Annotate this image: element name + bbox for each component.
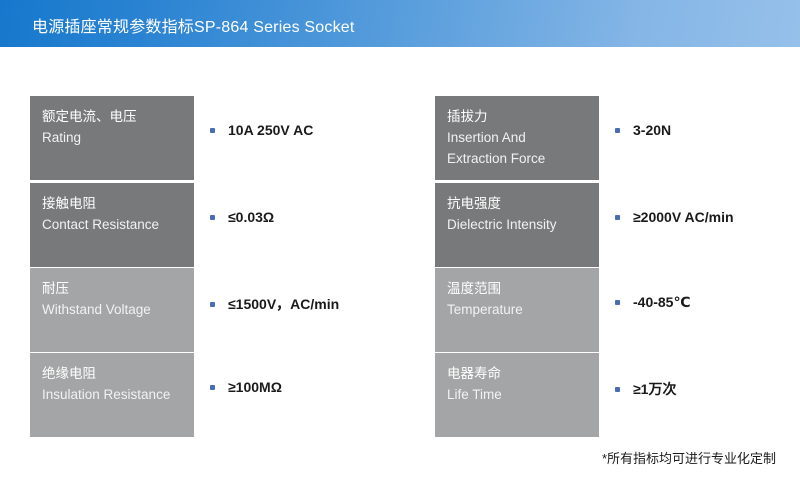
param-label-dielectric-intensity: 抗电强度 Dielectric Intensity [435,183,599,267]
param-value-group: ≤0.03Ω [210,209,274,225]
param-label-cn: 抗电强度 [447,193,599,214]
param-label-en: Insertion And [447,127,599,148]
param-label-cn: 接触电阻 [42,193,194,214]
param-row: 抗电强度 Dielectric Intensity ≥2000V AC/min [435,183,800,267]
param-label-cn: 插拔力 [447,106,599,127]
param-value-group: 3-20N [615,122,671,138]
param-value-group: -40-85℃ [615,294,690,311]
param-value: -40-85℃ [633,294,690,311]
param-label-en: Temperature [447,299,599,320]
param-label-insulation-resistance: 绝缘电阻 Insulation Resistance [30,353,194,437]
param-label-cn: 绝缘电阻 [42,363,194,384]
footnote-customization: *所有指标均可进行专业化定制 [602,448,776,467]
bullet-icon [615,300,620,305]
param-value: ≤1500V，AC/min [228,294,339,314]
param-row: 接触电阻 Contact Resistance ≤0.03Ω [30,183,400,267]
bullet-icon [615,387,620,392]
param-value: ≤0.03Ω [228,209,274,225]
param-value: 10A 250V AC [228,122,313,138]
parameters-content: 额定电流、电压 Rating 10A 250V AC 接触电阻 Contact … [0,47,800,479]
param-label-temperature: 温度范围 Temperature [435,268,599,352]
bullet-icon [210,128,215,133]
param-label-rating: 额定电流、电压 Rating [30,96,194,180]
bullet-icon [615,215,620,220]
header-banner: 电源插座常规参数指标SP-864 Series Socket [0,0,800,47]
param-label-withstand-voltage: 耐压 Withstand Voltage [30,268,194,352]
param-value-group: ≤1500V，AC/min [210,294,339,314]
param-row: 耐压 Withstand Voltage ≤1500V，AC/min [30,268,400,352]
param-label-life-time: 电器寿命 Life Time [435,353,599,437]
param-label-contact-resistance: 接触电阻 Contact Resistance [30,183,194,267]
param-label-en: Contact Resistance [42,214,194,235]
param-value-group: ≥1万次 [615,379,676,399]
param-value: ≥1万次 [633,379,676,399]
param-row: 插拔力 Insertion And Extraction Force 3-20N [435,96,800,180]
param-value-group: ≥100MΩ [210,379,282,395]
param-label-cn: 温度范围 [447,278,599,299]
param-value-group: ≥2000V AC/min [615,209,734,225]
param-label-en: Rating [42,127,194,148]
param-value: ≥100MΩ [228,379,282,395]
param-label-cn: 电器寿命 [447,363,599,384]
param-label-en-line2: Extraction Force [447,148,599,169]
param-value-group: 10A 250V AC [210,122,313,138]
param-value: ≥2000V AC/min [633,209,734,225]
bullet-icon [615,128,620,133]
param-label-en: Life Time [447,384,599,405]
param-label-en: Insulation Resistance [42,384,194,405]
param-row: 温度范围 Temperature -40-85℃ [435,268,800,352]
page-title: 电源插座常规参数指标SP-864 Series Socket [32,13,355,37]
bullet-icon [210,215,215,220]
bullet-icon [210,302,215,307]
bullet-icon [210,385,215,390]
param-label-insertion-extraction-force: 插拔力 Insertion And Extraction Force [435,96,599,180]
param-label-en: Withstand Voltage [42,299,194,320]
param-value: 3-20N [633,122,671,138]
param-label-en: Dielectric Intensity [447,214,599,235]
param-row: 绝缘电阻 Insulation Resistance ≥100MΩ [30,353,400,437]
param-row: 额定电流、电压 Rating 10A 250V AC [30,96,400,180]
param-label-cn: 耐压 [42,278,194,299]
param-row: 电器寿命 Life Time ≥1万次 [435,353,800,437]
param-label-cn: 额定电流、电压 [42,106,194,127]
